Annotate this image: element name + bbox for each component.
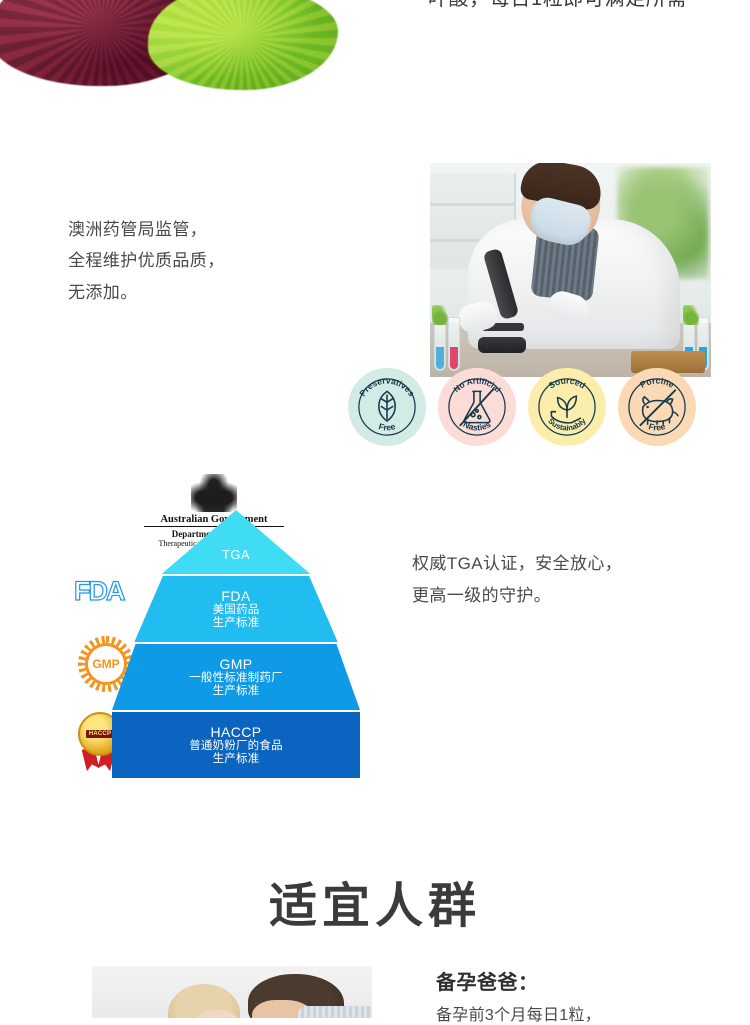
hero-headline: 叶酸，每日1粒即可满足所需: [428, 0, 738, 18]
svg-text:Porcine: Porcine: [638, 376, 676, 390]
badge-porcine-free: Porcine Free: [618, 368, 696, 446]
audience-item-block: 备孕爸爸： 备孕前3个月每日1粒，: [436, 966, 736, 1025]
leaf-icon: [379, 391, 395, 421]
quality-copy-line-1: 澳洲药管局监管，: [68, 214, 368, 245]
sprout-icon: [683, 305, 699, 325]
tier-cn-label-1: 普通奶粉厂的食品: [189, 740, 283, 753]
test-tube: [434, 317, 446, 371]
badge-top-label: Sourced: [547, 376, 588, 391]
test-tube: [448, 317, 460, 371]
laboratory-photo: [430, 163, 711, 377]
pyramid-tier-fda: FDA 美国药品 生产标准: [112, 576, 360, 642]
pig-no-icon: [640, 390, 678, 426]
tier-cn-label-2: 生产标准: [213, 753, 260, 766]
badge-bottom-label: Free: [378, 421, 397, 432]
badge-top-label: Porcine: [638, 376, 676, 390]
pyramid-tier-haccp: HACCP 普通奶粉厂的食品 生产标准: [112, 712, 360, 778]
certification-copy-block: 权威TGA认证，安全放心， 更高一级的守护。: [412, 548, 722, 611]
man-shirt: [298, 1006, 372, 1018]
quality-copy-line-2: 全程维护优质品质，: [68, 245, 368, 276]
certification-pyramid-block: Australian Government Department of Heal…: [70, 466, 360, 778]
tier-cn-label-1: 一般性标准制药厂: [189, 672, 283, 685]
tier-cn-label-2: 生产标准: [213, 617, 260, 630]
pyramid-tier-tga: TGA: [112, 510, 360, 574]
badge-preservatives-free: Preservatives Free: [348, 368, 426, 446]
badge-bottom-label: Nasties: [462, 419, 493, 433]
tier-cn-label-1: 美国药品: [213, 604, 260, 617]
green-lettuce-image: [148, 0, 338, 90]
coat-of-arms-icon: [191, 474, 237, 512]
badge-no-artificial-nasties: No Artificial Nasties: [438, 368, 516, 446]
audience-item-title: 备孕爸爸：: [436, 966, 736, 995]
certification-copy-line-1: 权威TGA认证，安全放心，: [412, 548, 722, 580]
svg-text:Nasties: Nasties: [462, 419, 493, 433]
quality-copy-line-3: 无添加。: [68, 277, 368, 308]
tier-en-label: FDA: [221, 588, 250, 604]
tier-en-label: TGA: [222, 547, 250, 562]
svg-text:Sourced: Sourced: [547, 376, 588, 391]
standards-pyramid: TGA FDA 美国药品 生产标准 GMP 一般性标准制药厂 生产标准 HACC…: [112, 510, 360, 778]
flask-no-icon: [460, 388, 494, 425]
badge-sourced-sustainably: Sourced Sustainably: [528, 368, 606, 446]
couple-photo: [92, 966, 372, 1018]
certification-copy-line-2: 更高一级的守护。: [412, 580, 722, 612]
section-title-audience: 适宜人群: [0, 866, 750, 936]
sprout-icon: [432, 305, 448, 325]
haccp-logo-label: HACCP: [86, 730, 114, 738]
tier-en-label: HACCP: [210, 724, 261, 740]
tier-cn-label-2: 生产标准: [213, 685, 260, 698]
audience-item-desc: 备孕前3个月每日1粒，: [436, 1001, 736, 1025]
pyramid-tier-gmp: GMP 一般性标准制药厂 生产标准: [112, 644, 360, 710]
hand-plant-icon: [551, 396, 581, 423]
hero-product-image: FOLATE Folic acid 500 micrograms • Maint…: [0, 0, 420, 100]
quality-copy-block: 澳洲药管局监管， 全程维护优质品质， 无添加。: [68, 214, 368, 308]
tier-en-label: GMP: [219, 656, 252, 672]
svg-text:Free: Free: [378, 421, 397, 432]
